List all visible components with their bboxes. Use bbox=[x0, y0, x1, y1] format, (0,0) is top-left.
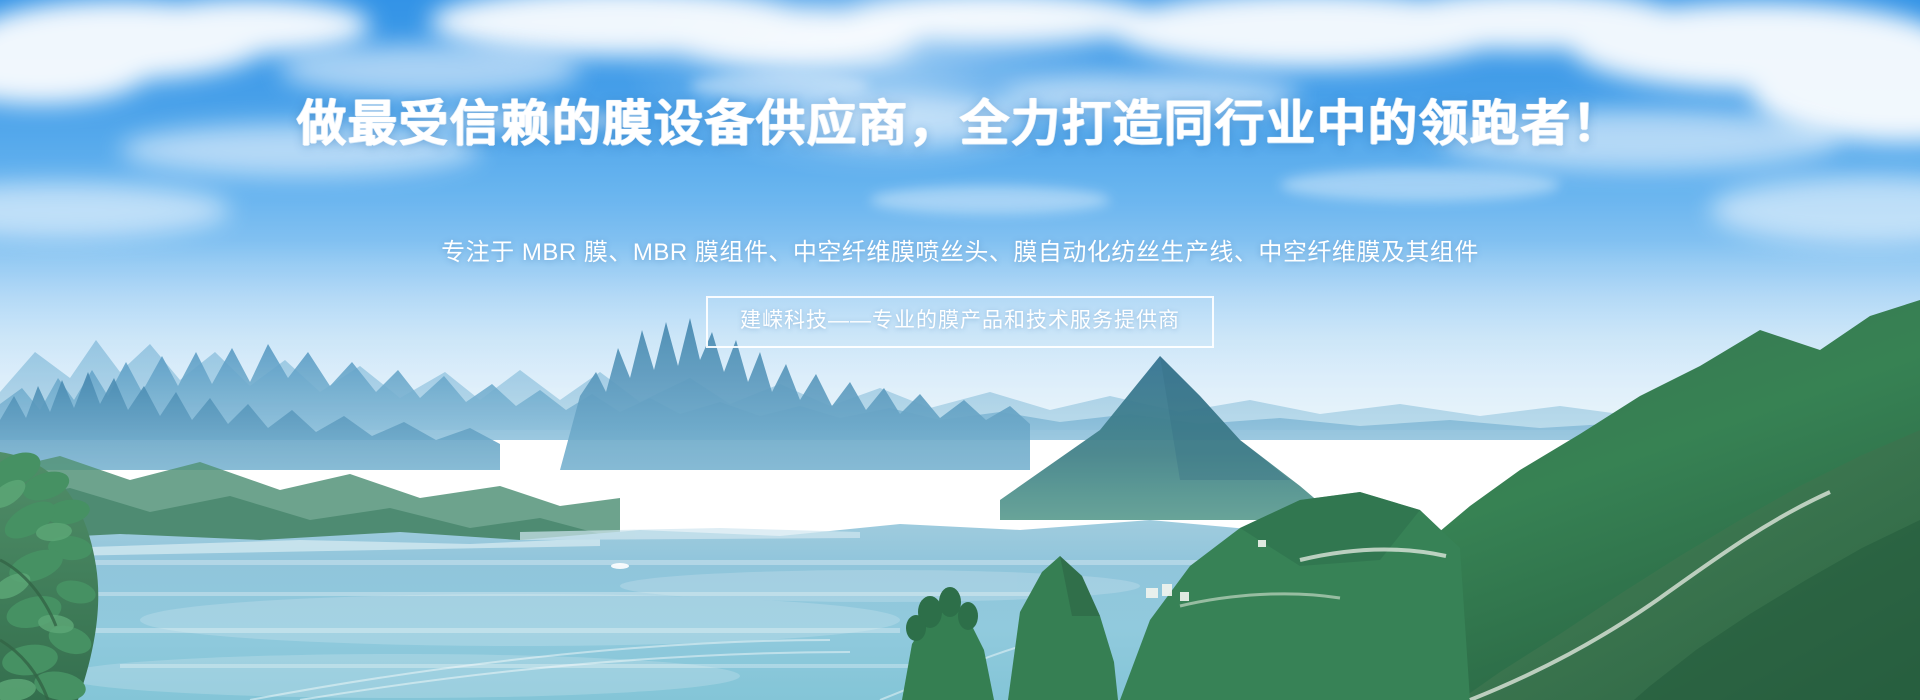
banner-headline: 做最受信赖的膜设备供应商，全力打造同行业中的领跑者！ bbox=[0, 96, 1920, 152]
banner-tagline-box: 建嵘科技——专业的膜产品和技术服务提供商 bbox=[706, 296, 1214, 348]
hero-banner: 做最受信赖的膜设备供应商，全力打造同行业中的领跑者！ 专注于 MBR 膜、MBR… bbox=[0, 0, 1920, 700]
banner-tagline-container: 建嵘科技——专业的膜产品和技术服务提供商 bbox=[0, 296, 1920, 348]
banner-subtitle: 专注于 MBR 膜、MBR 膜组件、中空纤维膜喷丝头、膜自动化纺丝生产线、中空纤… bbox=[0, 232, 1920, 267]
